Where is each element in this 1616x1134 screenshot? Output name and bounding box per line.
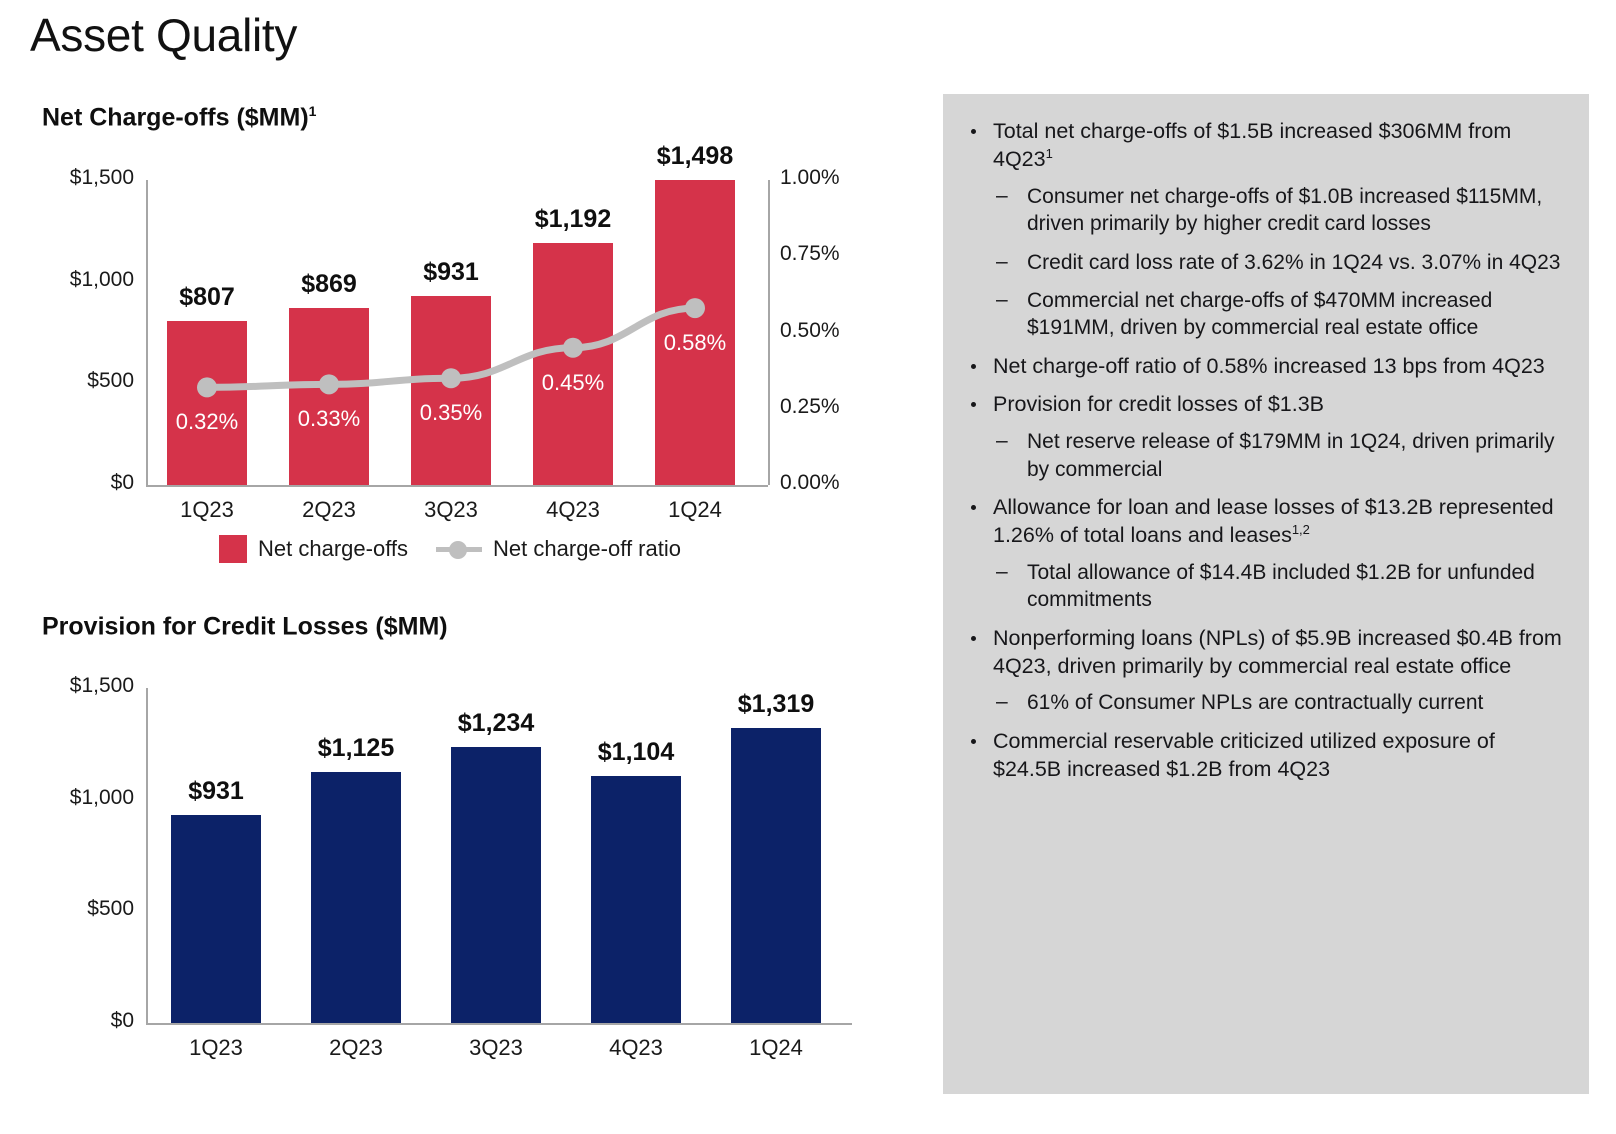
legend-line-label: Net charge-off ratio xyxy=(493,536,681,562)
x-axis-line xyxy=(146,1023,852,1025)
bullet-dot-icon xyxy=(971,402,976,407)
bar-value-label: $1,234 xyxy=(411,709,581,738)
bar xyxy=(451,747,541,1023)
commentary-sub-bullet-text: Credit card loss rate of 3.62% in 1Q24 v… xyxy=(1027,251,1560,274)
x-axis-category-label: 2Q23 xyxy=(281,1035,431,1061)
bar-value-label: $931 xyxy=(131,777,301,806)
bar-value-label: $1,104 xyxy=(551,738,721,767)
dash-icon: – xyxy=(996,558,1008,585)
commentary-bullet: Allowance for loan and lease losses of $… xyxy=(965,494,1563,614)
commentary-bullet: Net charge-off ratio of 0.58% increased … xyxy=(965,353,1563,381)
commentary-bullet-text: Net charge-off ratio of 0.58% increased … xyxy=(993,354,1545,378)
net-charge-offs-chart: $0$500$1,000$1,5000.00%0.25%0.50%0.75%1.… xyxy=(0,160,900,580)
commentary-sub-list: –61% of Consumer NPLs are contractually … xyxy=(993,689,1563,716)
slide-root: Asset Quality Net Charge-offs ($MM)1 $0$… xyxy=(0,0,1616,1134)
x-axis-category-label: 4Q23 xyxy=(561,1035,711,1061)
commentary-sub-bullet-text: Commercial net charge-offs of $470MM inc… xyxy=(1027,289,1492,339)
commentary-sub-list: –Net reserve release of $179MM in 1Q24, … xyxy=(993,428,1563,483)
net-charge-offs-heading: Net Charge-offs ($MM)1 xyxy=(42,103,316,132)
commentary-sub-bullet: –61% of Consumer NPLs are contractually … xyxy=(993,689,1563,716)
bullet-dot-icon xyxy=(971,505,976,510)
ratio-value-label: 0.35% xyxy=(376,400,526,426)
legend-item-line: Net charge-off ratio xyxy=(436,536,681,562)
commentary-sub-bullet-text: Consumer net charge-offs of $1.0B increa… xyxy=(1027,185,1542,235)
commentary-sub-list: –Consumer net charge-offs of $1.0B incre… xyxy=(993,183,1563,341)
page-title: Asset Quality xyxy=(30,8,297,62)
legend-bars-label: Net charge-offs xyxy=(258,536,408,562)
dash-icon: – xyxy=(996,248,1008,275)
commentary-bullet-text: Nonperforming loans (NPLs) of $5.9B incr… xyxy=(993,626,1562,678)
bar-value-label: $1,319 xyxy=(691,690,861,719)
commentary-bullet-list: Total net charge-offs of $1.5B increased… xyxy=(965,118,1563,784)
commentary-sub-bullet: –Credit card loss rate of 3.62% in 1Q24 … xyxy=(993,249,1563,276)
commentary-sub-bullet: –Consumer net charge-offs of $1.0B incre… xyxy=(993,183,1563,238)
commentary-sub-bullet: –Total allowance of $14.4B included $1.2… xyxy=(993,559,1563,614)
commentary-bullet-text: Commercial reservable criticized utilize… xyxy=(993,729,1495,781)
ratio-value-label: 0.58% xyxy=(620,330,770,356)
bullet-dot-icon xyxy=(971,129,976,134)
legend-swatch-icon xyxy=(219,535,247,563)
dash-icon: – xyxy=(996,286,1008,313)
commentary-panel: Total net charge-offs of $1.5B increased… xyxy=(943,94,1589,1094)
commentary-bullet-superscript: 1,2 xyxy=(1292,522,1310,537)
bullet-dot-icon xyxy=(971,739,976,744)
y-axis-tick-label: $1,500 xyxy=(34,674,134,698)
commentary-sub-bullet: –Net reserve release of $179MM in 1Q24, … xyxy=(993,428,1563,483)
provision-chart: $0$500$1,000$1,500$9311Q23$1,1252Q23$1,2… xyxy=(0,668,900,1088)
dash-icon: – xyxy=(996,688,1008,715)
commentary-bullet-text: Total net charge-offs of $1.5B increased… xyxy=(993,119,1511,171)
bar xyxy=(171,815,261,1023)
bar xyxy=(731,728,821,1023)
commentary-sub-list: –Total allowance of $14.4B included $1.2… xyxy=(993,559,1563,614)
dash-icon: – xyxy=(996,427,1008,454)
ratio-value-label: 0.45% xyxy=(498,370,648,396)
net-charge-offs-heading-superscript: 1 xyxy=(309,103,317,119)
commentary-bullet: Provision for credit losses of $1.3B–Net… xyxy=(965,391,1563,483)
y-axis-tick-label: $500 xyxy=(34,897,134,921)
y-axis-line xyxy=(146,688,148,1023)
commentary-bullet-text: Allowance for loan and lease losses of $… xyxy=(993,495,1554,547)
x-axis-category-label: 3Q23 xyxy=(421,1035,571,1061)
commentary-sub-bullet: –Commercial net charge-offs of $470MM in… xyxy=(993,287,1563,342)
legend-item-bars: Net charge-offs xyxy=(219,535,408,563)
commentary-sub-bullet-text: Net reserve release of $179MM in 1Q24, d… xyxy=(1027,430,1555,480)
commentary-bullet-superscript: 1 xyxy=(1046,146,1053,161)
y-axis-tick-label: $1,000 xyxy=(34,786,134,810)
bar xyxy=(591,776,681,1023)
bar xyxy=(311,772,401,1023)
commentary-bullet: Nonperforming loans (NPLs) of $5.9B incr… xyxy=(965,625,1563,717)
bullet-dot-icon xyxy=(971,636,976,641)
commentary-bullet: Commercial reservable criticized utilize… xyxy=(965,728,1563,784)
commentary-sub-bullet-text: 61% of Consumer NPLs are contractually c… xyxy=(1027,691,1483,714)
net-charge-offs-heading-text: Net Charge-offs ($MM) xyxy=(42,103,309,131)
ratio-line-series xyxy=(0,160,900,580)
commentary-sub-bullet-text: Total allowance of $14.4B included $1.2B… xyxy=(1027,561,1535,611)
x-axis-category-label: 1Q23 xyxy=(141,1035,291,1061)
provision-heading-text: Provision for Credit Losses ($MM) xyxy=(42,612,448,640)
bullet-dot-icon xyxy=(971,364,976,369)
commentary-bullet: Total net charge-offs of $1.5B increased… xyxy=(965,118,1563,342)
net-charge-offs-legend: Net charge-offs Net charge-off ratio xyxy=(0,535,900,563)
provision-heading: Provision for Credit Losses ($MM) xyxy=(42,612,448,641)
y-axis-tick-label: $0 xyxy=(34,1009,134,1033)
dash-icon: – xyxy=(996,182,1008,209)
commentary-bullet-text: Provision for credit losses of $1.3B xyxy=(993,392,1324,416)
legend-line-marker-icon xyxy=(436,538,482,560)
x-axis-category-label: 1Q24 xyxy=(701,1035,851,1061)
